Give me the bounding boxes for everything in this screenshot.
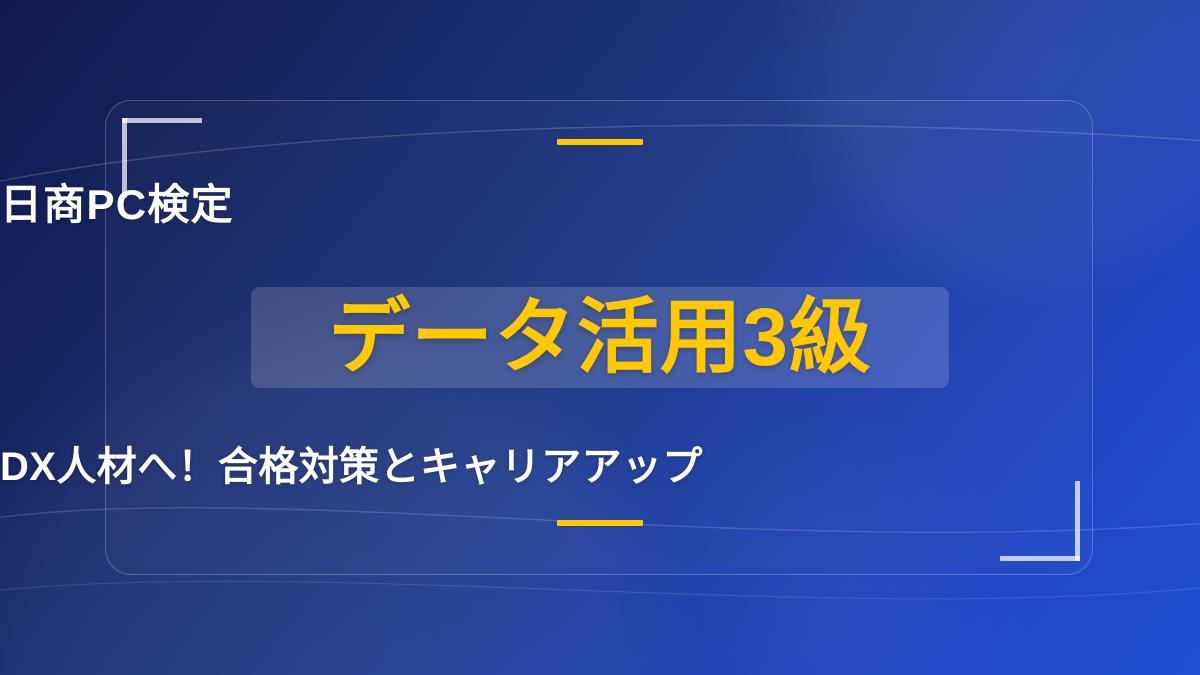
banner-canvas: 日商PC検定 データ活用3級 DX人材へ！合格対策とキャリアアップ (0, 0, 1200, 675)
divider-rule-bottom (557, 520, 643, 526)
banner-title: データ活用3級 (328, 292, 871, 384)
banner-eyebrow: 日商PC検定 (0, 180, 1200, 230)
banner-title-band: データ活用3級 (251, 287, 949, 388)
banner-subtitle: DX人材へ！合格対策とキャリアアップ (0, 441, 1200, 493)
corner-bracket-bottom-right-icon (1000, 481, 1080, 561)
divider-rule-top (557, 139, 643, 145)
